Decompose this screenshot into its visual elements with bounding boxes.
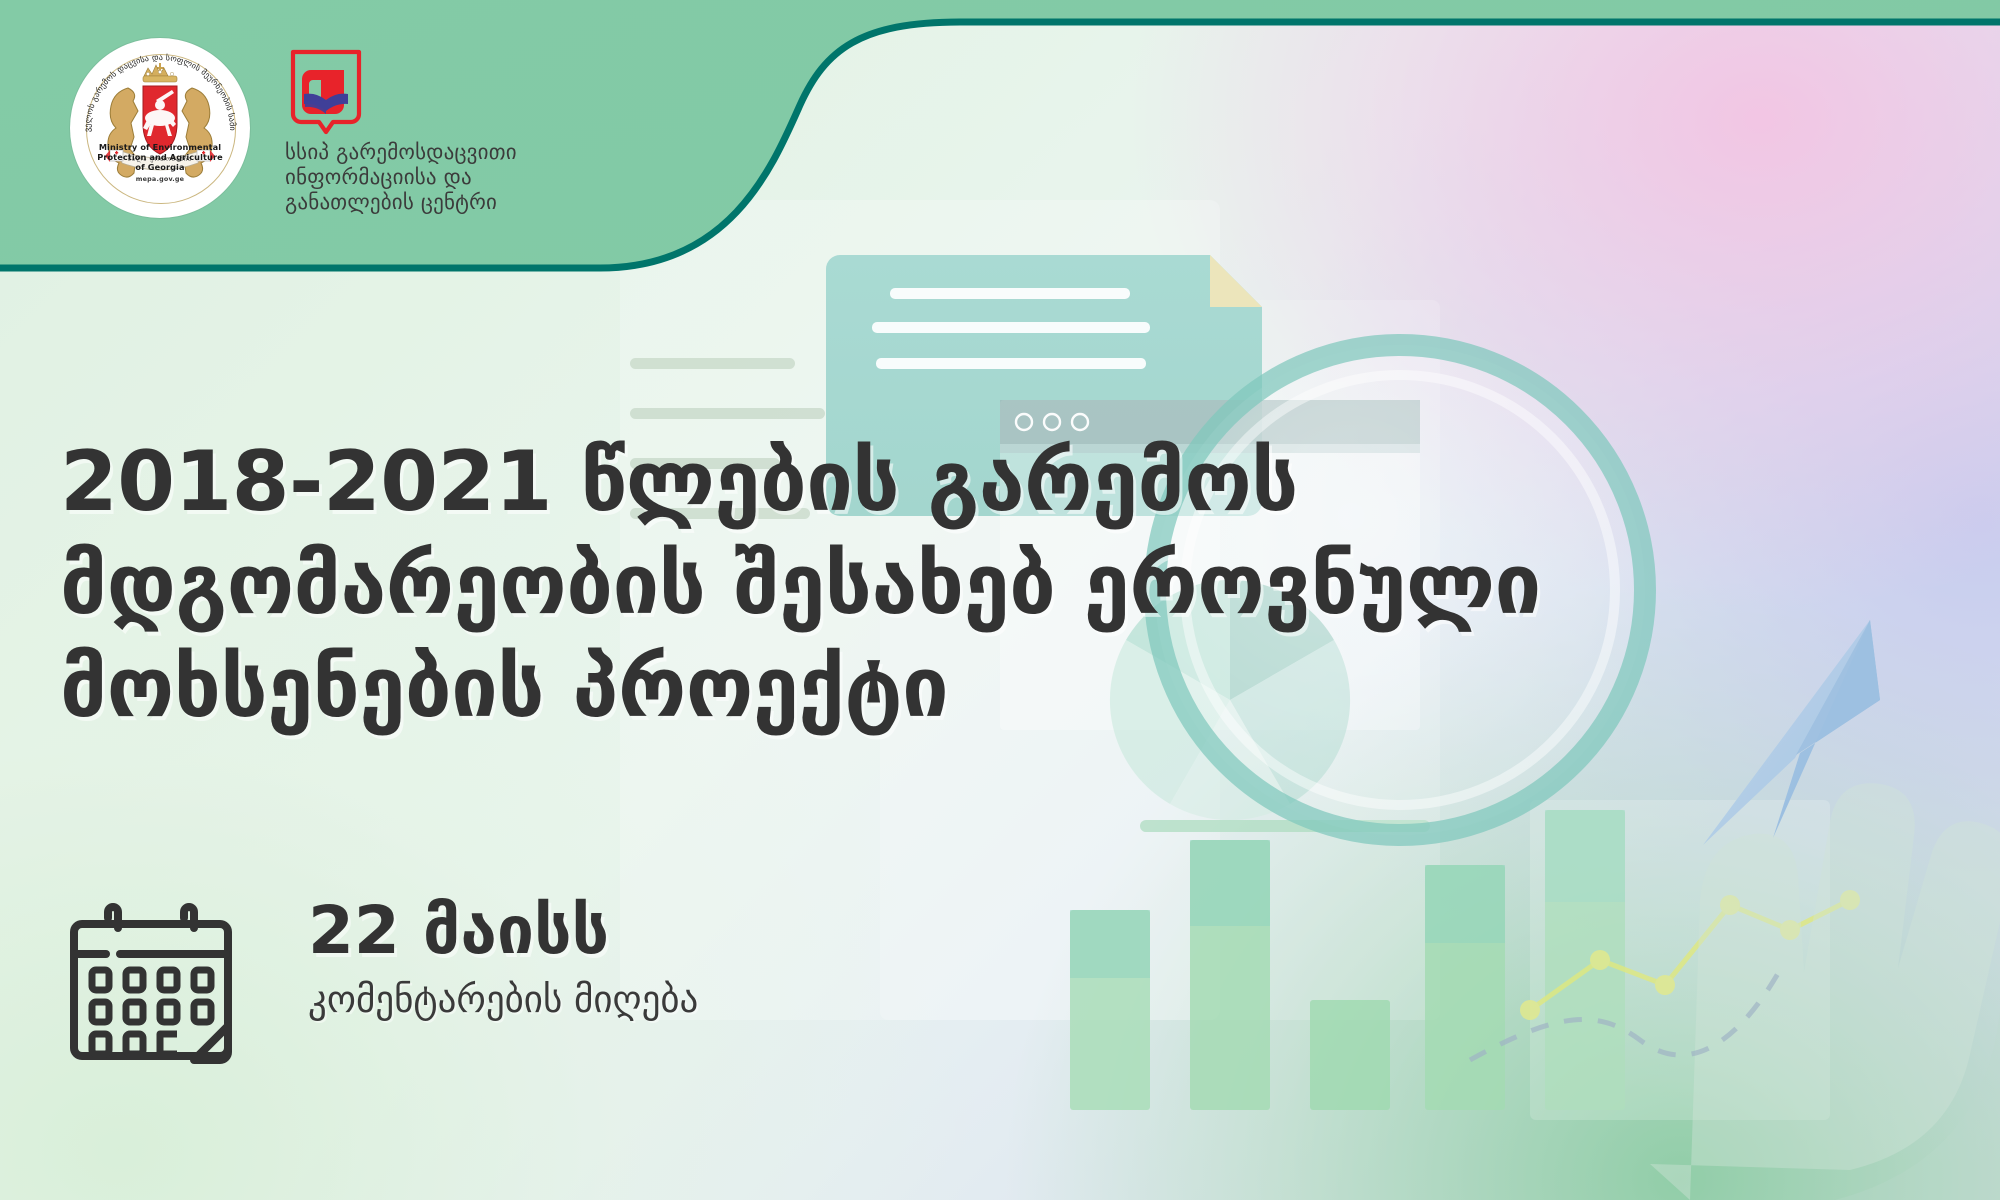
- banner-canvas: საქართველოს გარემოს დაცვისა და სოფლის მე…: [0, 0, 2000, 1200]
- page-title: 2018-2021 წლების გარემოს მდგომარეობის შე…: [60, 430, 1620, 739]
- ministry-emblem: საქართველოს გარემოს დაცვისა და სოფლის მე…: [70, 38, 250, 218]
- deadline-block: 22 მაისს კომენტარების მიღება: [58, 880, 878, 1080]
- calendar-icon: [66, 892, 251, 1067]
- headline-line-1: 2018-2021 წლების გარემოს: [60, 430, 1620, 533]
- deadline-date: 22 მაისს: [308, 894, 868, 968]
- emblem-eng-line-3: of Georgia: [70, 162, 250, 172]
- eiec-shield-book-logo: [288, 48, 364, 144]
- eiec-text-line-2: ინფორმაციისა და: [285, 165, 585, 190]
- emblem-url: mepa.gov.ge: [70, 175, 250, 183]
- eiec-logo-text: სსიპ გარემოსდაცვითი ინფორმაციისა და განა…: [285, 140, 585, 215]
- deadline-text: 22 მაისს კომენტარების მიღება: [308, 894, 868, 1022]
- headline-line-3: მოხსენების პროექტი: [60, 636, 1620, 739]
- eiec-text-line-3: განათლების ცენტრი: [285, 190, 585, 215]
- emblem-english-text: Ministry of Environmental Protection and…: [70, 142, 250, 173]
- deadline-caption: კომენტარების მიღება: [308, 978, 868, 1022]
- emblem-eng-line-1: Ministry of Environmental: [70, 142, 250, 152]
- coat-of-arms-icon: საქართველოს გარემოს დაცვისა და სოფლის მე…: [70, 38, 250, 218]
- emblem-eng-line-2: Protection and Agriculture: [70, 152, 250, 162]
- eiec-text-line-1: სსიპ გარემოსდაცვითი: [285, 140, 585, 165]
- headline-line-2: მდგომარეობის შესახებ ეროვნული: [60, 533, 1620, 636]
